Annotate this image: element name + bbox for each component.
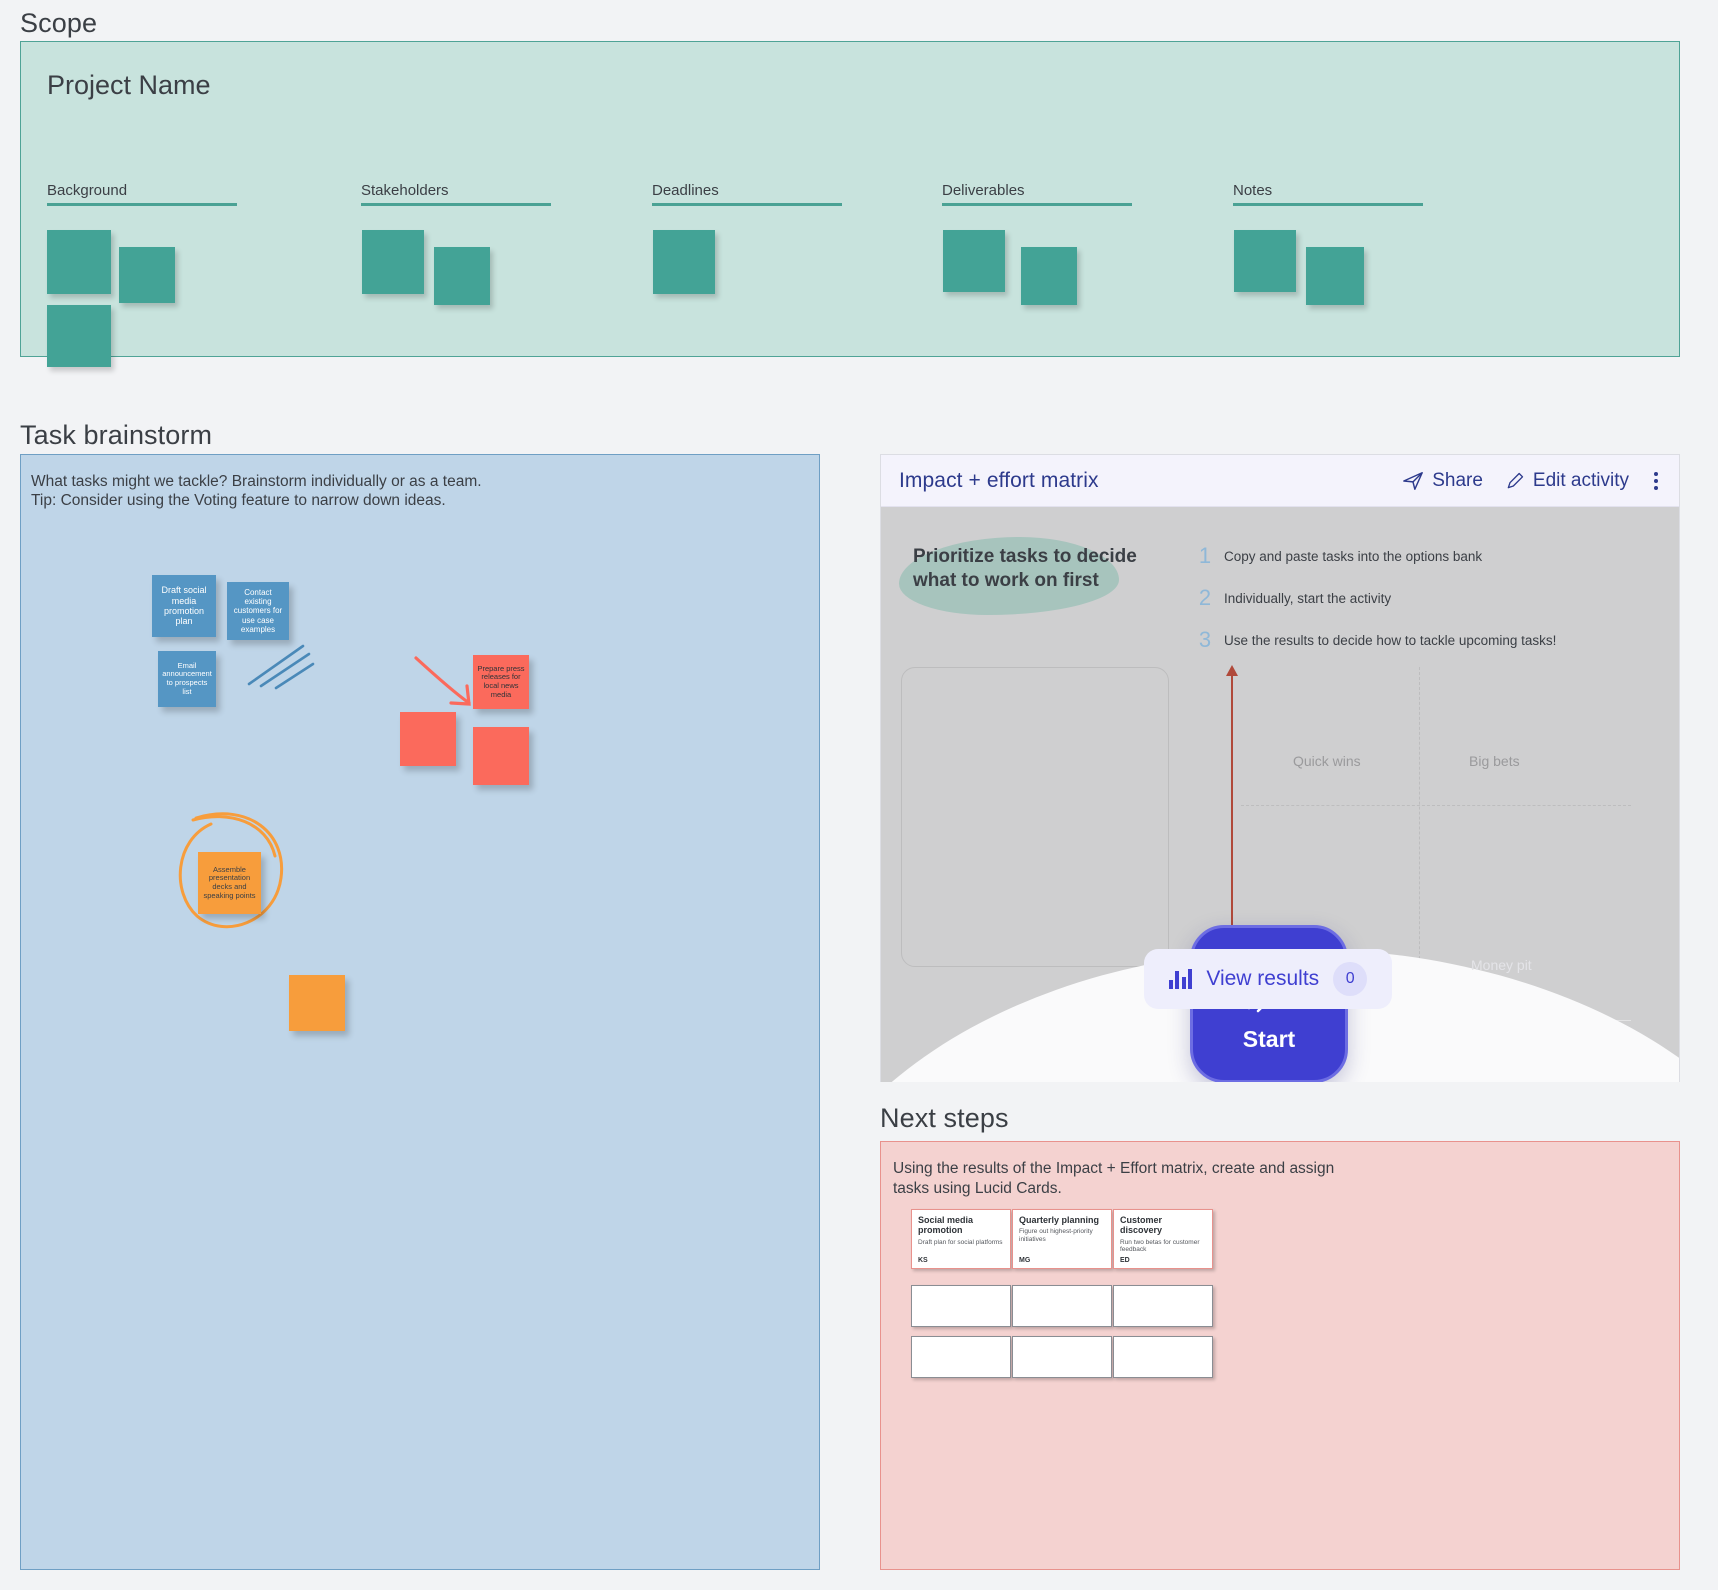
scope-sticky-note[interactable] <box>434 247 490 305</box>
step-number: 2 <box>1196 585 1214 611</box>
brainstorm-instruction-line-1: What tasks might we tackle? Brainstorm i… <box>31 472 482 491</box>
scope-column-rule <box>47 203 237 206</box>
task-brainstorm-frame[interactable]: What tasks might we tackle? Brainstorm i… <box>20 454 820 1570</box>
scope-heading: Scope <box>20 8 97 39</box>
quadrant-label-money-pit: Money pit <box>1471 957 1532 973</box>
send-icon <box>1402 470 1424 492</box>
edit-activity-button[interactable]: Edit activity <box>1505 470 1629 492</box>
step-text: Individually, start the activity <box>1224 591 1391 606</box>
lucid-card-blank[interactable] <box>1113 1336 1213 1378</box>
matrix-steps-list: 1 Copy and paste tasks into the options … <box>1196 543 1556 669</box>
view-results-label: View results <box>1206 967 1319 991</box>
next-steps-instruction-line-2: tasks using Lucid Cards. <box>893 1179 1334 1199</box>
scope-sticky-note[interactable] <box>47 230 111 294</box>
brainstorm-note-email-announcement[interactable]: Email announcement to prospects list <box>158 651 216 707</box>
view-results-button[interactable]: View results 0 <box>1144 949 1392 1009</box>
scope-sticky-note[interactable] <box>119 247 175 303</box>
scope-sticky-note[interactable] <box>1234 230 1296 292</box>
share-label: Share <box>1432 470 1483 492</box>
more-options-icon[interactable] <box>1651 472 1661 490</box>
blue-scribble-icon <box>241 640 321 695</box>
brainstorm-note-empty-orange[interactable] <box>289 975 345 1031</box>
card-title: Social media promotion <box>918 1215 1004 1236</box>
next-steps-instruction-line-1: Using the results of the Impact + Effort… <box>893 1159 1334 1179</box>
brainstorm-note-empty-red-1[interactable] <box>400 712 456 766</box>
scope-column-stakeholders: Stakeholders <box>361 182 551 206</box>
impact-effort-matrix-card[interactable]: Impact + effort matrix Share Edit activi… <box>880 454 1680 1082</box>
card-title: Customer discovery <box>1120 1215 1206 1236</box>
scope-column-label: Notes <box>1233 182 1423 203</box>
scope-column-label: Background <box>47 182 237 203</box>
card-title: Quarterly planning <box>1019 1215 1105 1225</box>
task-brainstorm-heading: Task brainstorm <box>20 420 212 451</box>
brainstorm-note-empty-red-2[interactable] <box>473 727 529 785</box>
matrix-body: Prioritize tasks to decide what to work … <box>881 507 1679 1082</box>
quadrant-label-big-bets: Big bets <box>1469 753 1520 769</box>
scope-column-rule <box>1233 203 1423 206</box>
scope-column-label: Stakeholders <box>361 182 551 203</box>
step-text: Copy and paste tasks into the options ba… <box>1224 549 1482 564</box>
project-name: Project Name <box>47 70 211 101</box>
scope-sticky-note[interactable] <box>1306 247 1364 305</box>
next-steps-heading: Next steps <box>880 1103 1009 1134</box>
lucid-card-blank[interactable] <box>911 1285 1011 1327</box>
scope-column-deliverables: Deliverables <box>942 182 1132 206</box>
scope-sticky-note[interactable] <box>47 305 111 367</box>
lucid-card-blank[interactable] <box>1012 1285 1112 1327</box>
whiteboard-canvas: Scope Project Name Background Stakeholde… <box>0 0 1718 1590</box>
scope-column-notes: Notes <box>1233 182 1423 206</box>
quadrant-label-quick-wins: Quick wins <box>1293 753 1361 769</box>
matrix-step-3: 3 Use the results to decide how to tackl… <box>1196 627 1556 653</box>
matrix-callout-text: Prioritize tasks to decide what to work … <box>913 545 1143 593</box>
step-number: 3 <box>1196 627 1214 653</box>
matrix-step-2: 2 Individually, start the activity <box>1196 585 1556 611</box>
scope-column-label: Deliverables <box>942 182 1132 203</box>
card-description: Run two betas for customer feedback <box>1120 1239 1206 1255</box>
brainstorm-note-draft-social-media[interactable]: Draft social media promotion plan <box>152 575 216 637</box>
card-description: Figure out highest-priority initiatives <box>1019 1228 1105 1244</box>
matrix-step-1: 1 Copy and paste tasks into the options … <box>1196 543 1556 569</box>
next-steps-frame[interactable]: Using the results of the Impact + Effort… <box>880 1141 1680 1570</box>
view-results-count: 0 <box>1333 962 1367 996</box>
brainstorm-note-assemble-decks[interactable]: Assemble presentation decks and speaking… <box>198 852 261 914</box>
lucid-card-blank[interactable] <box>1113 1285 1213 1327</box>
scope-column-rule <box>361 203 551 206</box>
scope-frame[interactable]: Project Name Background Stakeholders Dea… <box>20 41 1680 357</box>
step-number: 1 <box>1196 543 1214 569</box>
brainstorm-note-contact-customers[interactable]: Contact existing customers for use case … <box>227 582 289 640</box>
lucid-card-quarterly-planning[interactable]: Quarterly planning Figure out highest-pr… <box>1012 1209 1112 1269</box>
pencil-icon <box>1505 471 1525 491</box>
brainstorm-instructions: What tasks might we tackle? Brainstorm i… <box>31 472 482 511</box>
start-button-label: Start <box>1243 1026 1295 1053</box>
next-steps-instructions: Using the results of the Impact + Effort… <box>893 1159 1334 1199</box>
card-assignee-initials: ED <box>1120 1257 1130 1264</box>
scope-column-rule <box>942 203 1132 206</box>
matrix-header: Impact + effort matrix Share Edit activi… <box>881 455 1679 507</box>
brainstorm-instruction-line-2: Tip: Consider using the Voting feature t… <box>31 491 482 510</box>
lucid-card-social-media-promotion[interactable]: Social media promotion Draft plan for so… <box>911 1209 1011 1269</box>
matrix-title: Impact + effort matrix <box>899 469 1099 493</box>
scope-sticky-note[interactable] <box>1021 247 1077 305</box>
scope-sticky-note[interactable] <box>362 230 424 294</box>
edit-activity-label: Edit activity <box>1533 470 1629 492</box>
scope-sticky-note[interactable] <box>943 230 1005 292</box>
lucid-card-blank[interactable] <box>911 1336 1011 1378</box>
scope-column-rule <box>652 203 842 206</box>
brainstorm-note-press-releases[interactable]: Prepare press releases for local news me… <box>473 655 529 709</box>
scope-column-label: Deadlines <box>652 182 842 203</box>
card-description: Draft plan for social platforms <box>918 1239 1004 1247</box>
card-assignee-initials: MG <box>1019 1257 1030 1264</box>
card-assignee-initials: KS <box>918 1257 928 1264</box>
share-button[interactable]: Share <box>1402 470 1483 492</box>
step-text: Use the results to decide how to tackle … <box>1224 633 1556 648</box>
matrix-plot-area: Quick wins Big bets Incremental Money pi… <box>901 667 1631 1067</box>
options-bank-box[interactable] <box>901 667 1169 967</box>
lucid-card-blank[interactable] <box>1012 1336 1112 1378</box>
quadrant-divider-horizontal <box>1241 805 1631 806</box>
scope-column-background: Background <box>47 182 237 206</box>
scope-column-deadlines: Deadlines <box>652 182 842 206</box>
scope-sticky-note[interactable] <box>653 230 715 294</box>
bar-chart-icon <box>1169 969 1193 989</box>
lucid-card-customer-discovery[interactable]: Customer discovery Run two betas for cus… <box>1113 1209 1213 1269</box>
matrix-header-actions: Share Edit activity <box>1402 470 1661 492</box>
